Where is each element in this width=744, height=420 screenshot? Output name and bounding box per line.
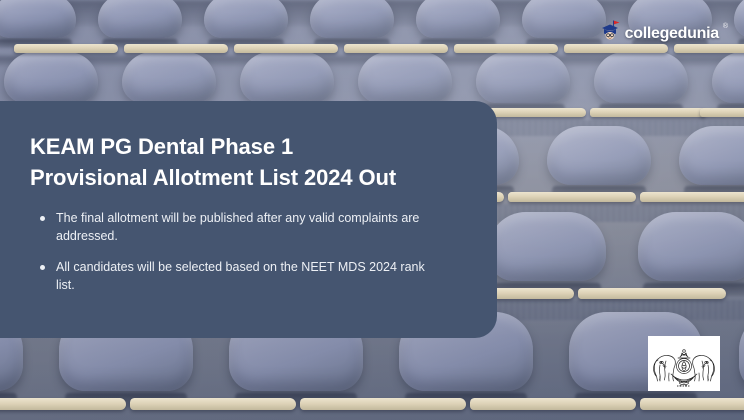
tablet-arm [454,44,558,53]
page-title: KEAM PG Dental Phase 1 Provisional Allot… [30,131,453,193]
tablet-arm [234,44,338,53]
list-item-text: The final allotment will be published af… [56,211,419,243]
seat [706,52,744,114]
tablet-arm [130,398,296,410]
list-item: All candidates will be selected based on… [30,258,436,294]
seat [730,312,744,408]
seat [304,0,400,48]
tablet-arm [640,398,744,410]
seat [672,126,744,198]
trademark-symbol: ® [723,23,728,30]
headline-line-2: Provisional Allotment List 2024 Out [30,165,396,190]
collegedunia-watermark[interactable]: collegedunia ® [599,20,728,47]
seat [728,0,744,48]
brand-name: collegedunia [625,25,719,43]
collegedunia-mascot-icon [599,20,621,47]
seat [198,0,294,48]
banner: KEAM PG Dental Phase 1 Provisional Allot… [0,0,744,420]
seat [0,0,82,48]
tablet-arm [578,288,726,299]
highlights-list: The final allotment will be published af… [30,209,453,294]
tablet-arm [508,192,636,202]
tablet-arm [0,398,126,410]
tablet-arm [14,44,118,53]
info-card: KEAM PG Dental Phase 1 Provisional Allot… [0,101,497,338]
tablet-arm [590,108,706,117]
list-item: The final allotment will be published af… [30,209,436,245]
bullet-dot-icon [40,216,45,221]
tablet-arm [640,192,744,202]
seat [588,52,694,114]
bullet-dot-icon [40,265,45,270]
seat [92,0,188,48]
kerala-government-emblem [648,336,720,391]
seat [516,0,612,48]
headline-line-1: KEAM PG Dental Phase 1 [30,134,293,159]
seat [480,212,614,296]
seat [630,212,744,296]
tablet-arm [300,398,466,410]
tablet-arm [700,108,744,117]
seat [410,0,506,48]
list-item-text: All candidates will be selected based on… [56,260,425,292]
tablet-arm [470,398,636,410]
tablet-arm [124,44,228,53]
seat [540,126,658,198]
tablet-arm [344,44,448,53]
